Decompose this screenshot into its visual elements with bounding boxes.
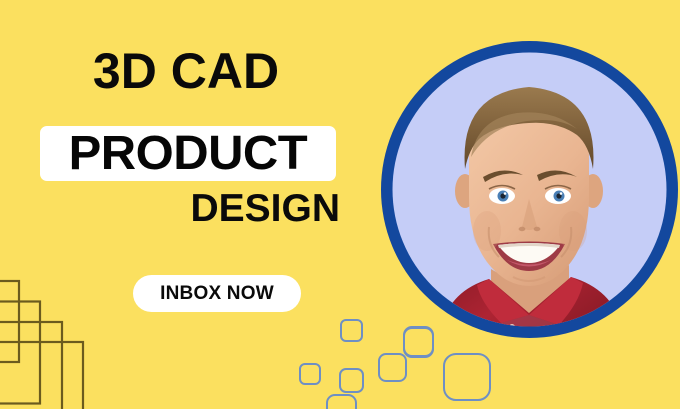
nested-square-outlines [0,281,83,409]
promo-banner: 3D CAD PRODUCT DESIGN INBOX NOW [0,0,680,409]
headline-line-3: DESIGN [0,189,340,228]
portrait-avatar [381,41,678,338]
headline-line-2-box: PRODUCT [40,126,336,181]
nested-squares-decoration [0,270,150,409]
headline-line-2: PRODUCT [69,130,308,178]
headline-line-1: 3D CAD [0,46,372,96]
inbox-now-button[interactable]: INBOX NOW [133,275,301,312]
inbox-now-label: INBOX NOW [160,283,274,305]
rounded-square-outlines [300,320,490,409]
